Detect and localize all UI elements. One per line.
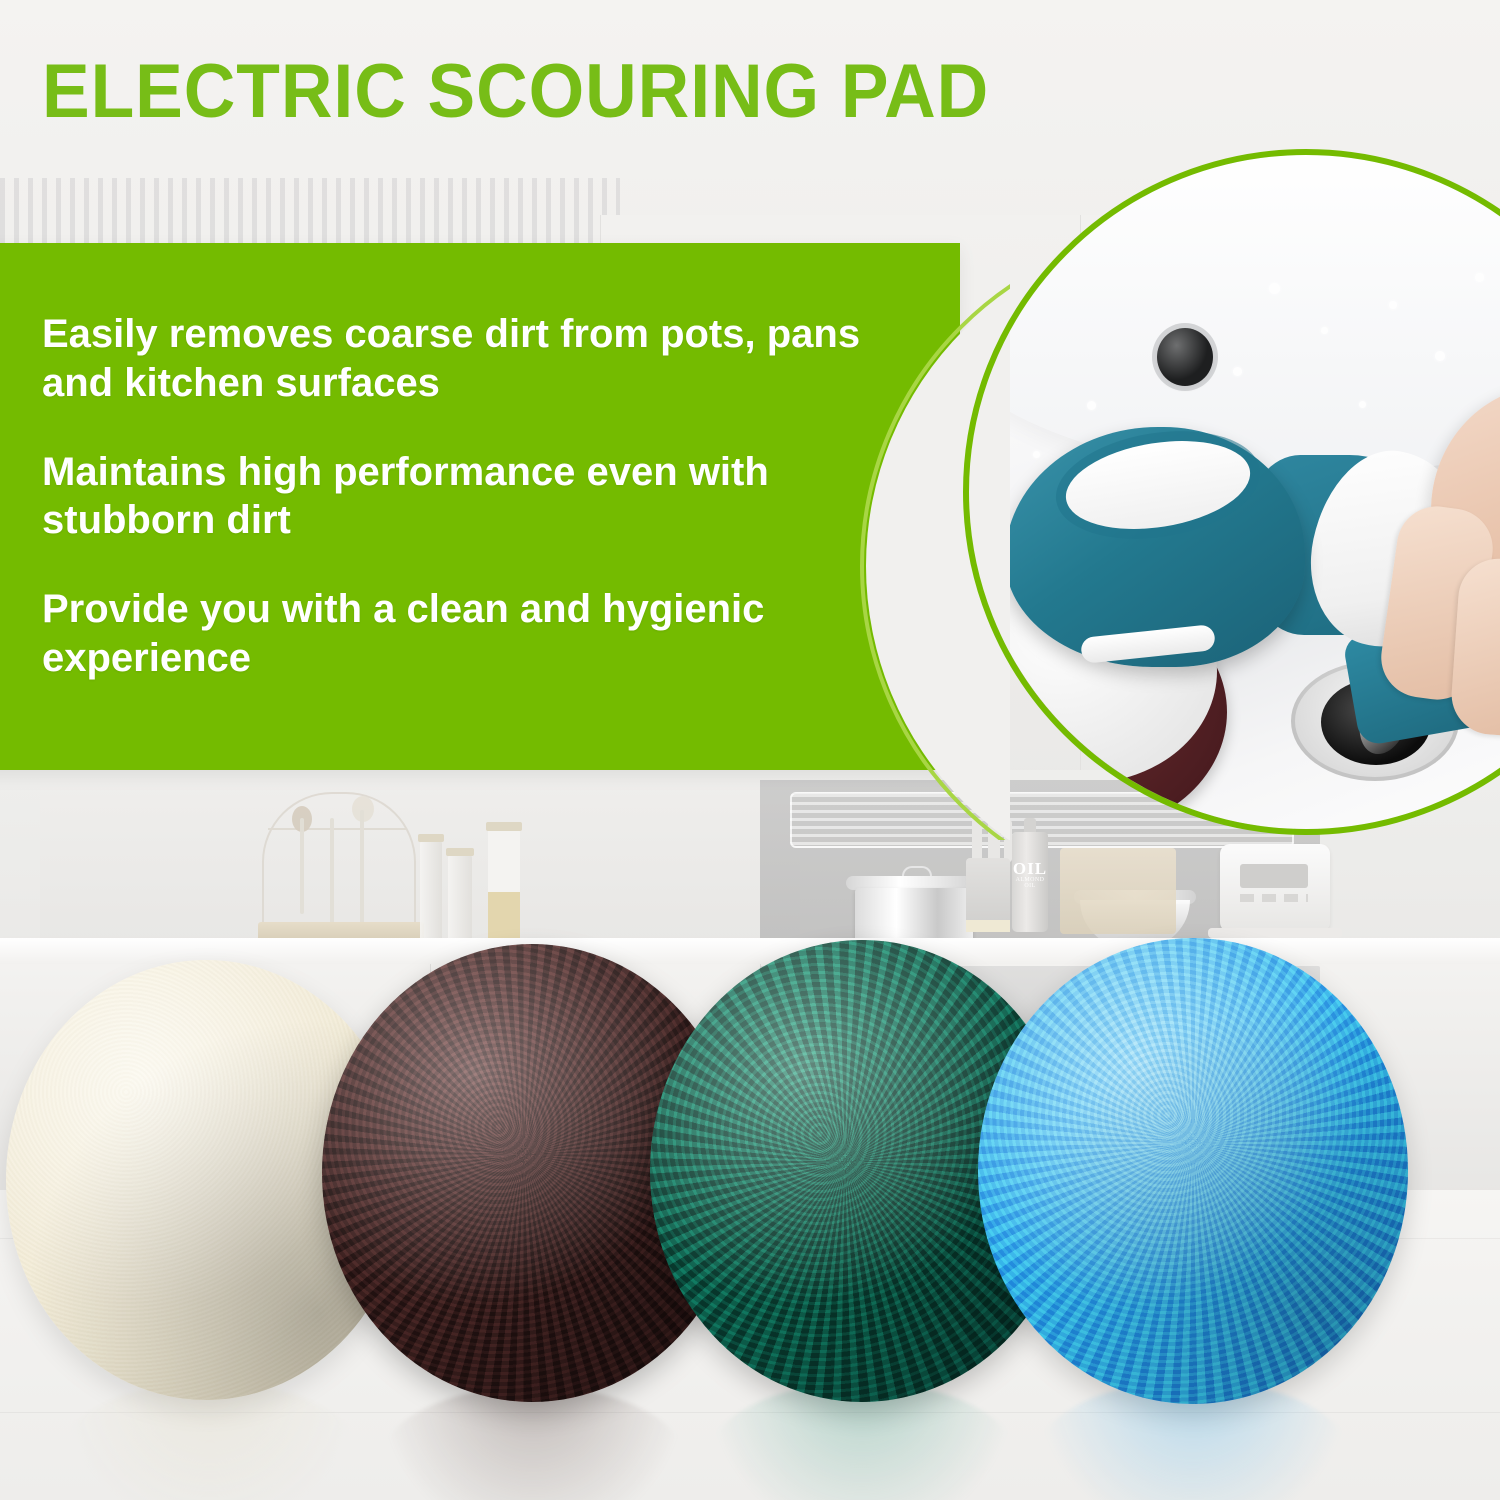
photo-inset-clip bbox=[969, 155, 1500, 829]
overflow-hole bbox=[1157, 328, 1213, 386]
product-pad-blue[interactable] bbox=[978, 938, 1408, 1404]
glass-jar-1 bbox=[420, 840, 442, 944]
utensil-rack bbox=[262, 792, 416, 936]
photo-inset-circle bbox=[963, 149, 1500, 835]
feature-item-1: Easily removes coarse dirt from pots, pa… bbox=[42, 310, 872, 408]
jar-cap-3 bbox=[486, 822, 522, 831]
faucet-base-icon bbox=[1027, 155, 1105, 207]
utensil-rack-bar bbox=[268, 828, 406, 830]
jar-cap-2 bbox=[446, 848, 474, 856]
utensil-2 bbox=[330, 818, 334, 928]
jar-cap-1 bbox=[418, 834, 444, 842]
oil-bottle-label: OIL bbox=[1012, 860, 1048, 877]
rice-cooker bbox=[1220, 844, 1330, 932]
glass-jar-3 bbox=[488, 828, 520, 944]
oil-bottle-sublabel: ALMOND OIL bbox=[1010, 877, 1050, 889]
feature-item-2: Maintains high performance even with stu… bbox=[42, 448, 872, 546]
feature-list: Easily removes coarse dirt from pots, pa… bbox=[42, 310, 872, 683]
cutting-board bbox=[1060, 848, 1176, 934]
utensil-3 bbox=[360, 810, 364, 928]
pad-reflection-brown bbox=[378, 1386, 688, 1500]
pad-shading-blue bbox=[978, 938, 1408, 1404]
feature-item-3: Provide you with a clean and hygienic ex… bbox=[42, 585, 872, 683]
page-title: ELECTRIC SCOURING PAD bbox=[42, 54, 989, 130]
rice-cooker-display bbox=[1240, 864, 1308, 888]
rice-cooker-buttons bbox=[1240, 894, 1308, 902]
utensil-1 bbox=[300, 818, 304, 914]
product-pads-row bbox=[0, 930, 1500, 1450]
product-infographic: ELECTRIC SCOURING PAD OIL bbox=[0, 0, 1500, 1500]
